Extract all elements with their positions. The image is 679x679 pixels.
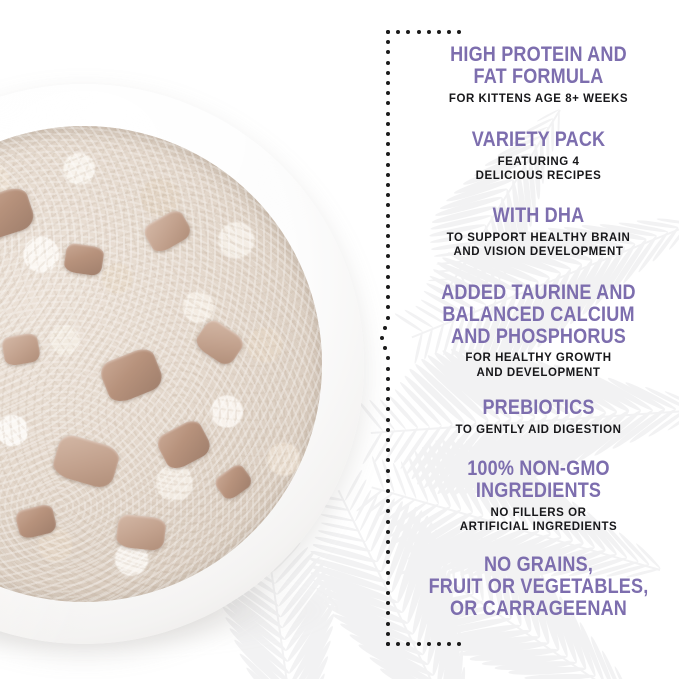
feature-item: PREBIOTICSTO GENTLY AID DIGESTION [398, 397, 679, 437]
bracket-dot [386, 387, 390, 391]
bracket-dot [386, 601, 390, 605]
bracket-dot [380, 336, 384, 340]
bracket-dot [386, 285, 390, 289]
product-photo-bowl-of-cat-food [0, 84, 364, 644]
palm-leaflet [238, 651, 296, 679]
bracket-dot [386, 152, 390, 156]
feature-title: VARIETY PACK [418, 129, 660, 151]
feature-title: HIGH PROTEIN AND FAT FORMULA [418, 44, 660, 88]
palm-leaflet [366, 491, 395, 515]
bracket-dot [386, 418, 390, 422]
bracket-dot [386, 163, 390, 167]
bracket-dot [386, 550, 390, 554]
feature-item: WITH DHATO SUPPORT HEALTHY BRAIN AND VIS… [398, 205, 679, 260]
bracket-dot [386, 183, 390, 187]
bracket-dot [386, 193, 390, 197]
feature-item: NO GRAINS, FRUIT OR VEGETABLES, OR CARRA… [398, 554, 679, 619]
feature-title: PREBIOTICS [418, 397, 660, 419]
bracket-dot [386, 509, 390, 513]
bracket-dot [386, 438, 390, 442]
bracket-dot [386, 295, 390, 299]
palm-leaflet [291, 639, 333, 679]
bracket-dot [386, 50, 390, 54]
bracket-dot [386, 265, 390, 269]
feature-title: 100% NON-GMO INGREDIENTS [418, 458, 660, 502]
bracket-dot [386, 571, 390, 575]
bracket-dot [386, 122, 390, 126]
palm-leaflet [373, 429, 396, 463]
bracket-dot [386, 407, 390, 411]
feature-item: 100% NON-GMO INGREDIENTSNO FILLERS OR AR… [398, 458, 679, 535]
feature-subtitle: NO FILLERS OR ARTIFICIAL INGREDIENTS [398, 506, 679, 535]
feature-subtitle: FOR KITTENS AGE 8+ WEEKS [398, 92, 679, 106]
bracket-dot [386, 30, 390, 34]
feature-item: VARIETY PACKFEATURING 4 DELICIOUS RECIPE… [398, 129, 679, 184]
bracket-dot [386, 40, 390, 44]
feature-subtitle: TO SUPPORT HEALTHY BRAIN AND VISION DEVE… [398, 231, 679, 260]
bracket-dot [386, 428, 390, 432]
bracket-dot [386, 540, 390, 544]
bracket-dot [386, 81, 390, 85]
bracket-dot [386, 367, 390, 371]
feature-title: NO GRAINS, FRUIT OR VEGETABLES, OR CARRA… [418, 554, 660, 619]
bracket-dot [386, 203, 390, 207]
palm-leaflet [292, 655, 330, 679]
bracket-dot [386, 275, 390, 279]
bracket-dot [386, 530, 390, 534]
feature-title: ADDED TAURINE AND BALANCED CALCIUM AND P… [418, 282, 660, 347]
bracket-dot [386, 254, 390, 258]
bracket-dot [386, 642, 390, 646]
bracket-dot [386, 30, 390, 34]
bracket-dot [386, 91, 390, 95]
bracket-dot [386, 560, 390, 564]
bracket-dot [386, 112, 390, 116]
palm-leaflet [368, 399, 395, 431]
bracket-dot [386, 458, 390, 462]
palm-leaflet [381, 459, 396, 493]
bracket-dot [386, 214, 390, 218]
bracket-dot [386, 469, 390, 473]
meat-chunk [63, 242, 105, 276]
meat-chunk [116, 514, 167, 552]
feature-subtitle: FOR HEALTHY GROWTH AND DEVELOPMENT [398, 351, 679, 380]
feature-item: HIGH PROTEIN AND FAT FORMULAFOR KITTENS … [398, 44, 679, 106]
bracket-dot [383, 346, 387, 350]
bracket-dot [386, 499, 390, 503]
bracket-dot [386, 61, 390, 65]
palm-leaflet [369, 497, 397, 552]
palm-leaflet [294, 672, 327, 679]
palm-leaflet [361, 430, 384, 465]
bracket-dot [386, 479, 390, 483]
bracket-dot [386, 448, 390, 452]
bracket-dot [386, 581, 390, 585]
feature-subtitle: FEATURING 4 DELICIOUS RECIPES [398, 155, 679, 184]
bracket-dot [386, 632, 390, 636]
bracket-dot [386, 142, 390, 146]
bracket-dot [386, 622, 390, 626]
bracket-dot [386, 316, 390, 320]
bracket-dot [383, 326, 387, 330]
bracket-dot [386, 244, 390, 248]
palm-leaflet [244, 666, 297, 679]
bracket-dot [386, 234, 390, 238]
bracket-dot [386, 377, 390, 381]
bracket-dot [386, 101, 390, 105]
bracket-dot [386, 591, 390, 595]
bracket-dot [386, 71, 390, 75]
palm-leaflet [370, 455, 384, 489]
bracket-dot [386, 520, 390, 524]
feature-subtitle: TO GENTLY AID DIGESTION [398, 423, 679, 437]
feature-item: ADDED TAURINE AND BALANCED CALCIUM AND P… [398, 282, 679, 380]
bracket-dot [386, 642, 390, 646]
bracket-dot [386, 356, 390, 360]
palm-leaflet [364, 496, 389, 543]
product-feature-infographic: HIGH PROTEIN AND FAT FORMULAFOR KITTENS … [0, 0, 679, 679]
bracket-dot [386, 224, 390, 228]
bracket-dot [386, 305, 390, 309]
bracket-dot [386, 611, 390, 615]
bracket-dot [386, 132, 390, 136]
bracket-dot [386, 173, 390, 177]
bracket-dot [386, 397, 390, 401]
feature-list: HIGH PROTEIN AND FAT FORMULAFOR KITTENS … [398, 0, 679, 679]
feature-title: WITH DHA [418, 205, 660, 227]
bracket-dot [386, 489, 390, 493]
bowl-interior [0, 126, 322, 602]
